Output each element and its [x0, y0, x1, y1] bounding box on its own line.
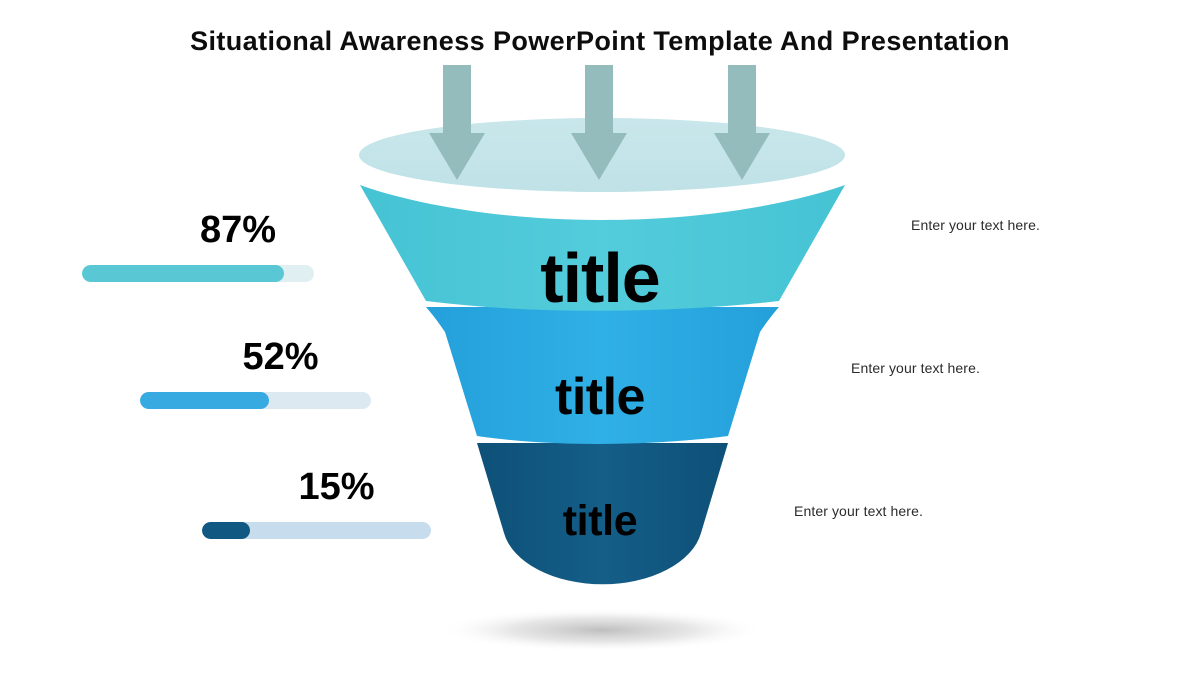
- stat-percent-label-3: 15%: [222, 468, 451, 506]
- slide-canvas: Situational Awareness PowerPoint Templat…: [0, 0, 1200, 675]
- stat-percent-label-1: 87%: [122, 211, 354, 249]
- note-text-1: Enter your text here.: [911, 217, 1040, 233]
- funnel-shadow: [437, 608, 767, 652]
- stat-row-2: 52%: [140, 338, 371, 409]
- progress-fill-2: [140, 392, 269, 409]
- progress-fill-3: [202, 522, 250, 539]
- stat-row-3: 15%: [202, 468, 431, 539]
- note-text-2: Enter your text here.: [851, 360, 980, 376]
- page-title: Situational Awareness PowerPoint Templat…: [0, 26, 1200, 57]
- funnel-segment-2-label: title: [450, 371, 750, 423]
- stat-row-1: 87%: [82, 211, 314, 282]
- progress-track-2: [140, 392, 371, 409]
- funnel-segment-1-label: title: [450, 243, 750, 313]
- funnel-segment-3-label: title: [450, 500, 750, 543]
- stat-percent-label-2: 52%: [165, 338, 396, 376]
- progress-fill-1: [82, 265, 284, 282]
- note-text-3: Enter your text here.: [794, 503, 923, 519]
- progress-track-3: [202, 522, 431, 539]
- funnel-diagram: [330, 55, 875, 655]
- progress-track-1: [82, 265, 314, 282]
